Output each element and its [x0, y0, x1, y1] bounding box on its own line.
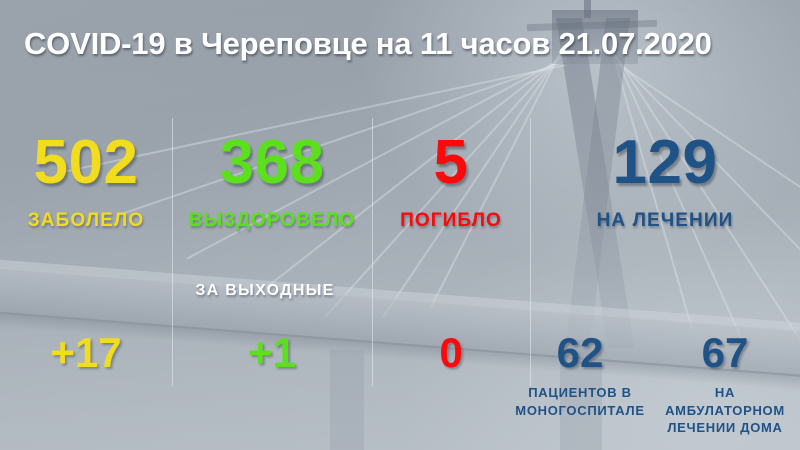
stat-monohospital-value: 62: [500, 332, 660, 374]
stat-infected-label: ЗАБОЛЕЛО: [0, 210, 172, 232]
stat-died-label: ПОГИБЛО: [372, 210, 530, 232]
covid-stats-infographic: COVID-19 в Череповце на 11 часов 21.07.2…: [0, 0, 800, 450]
stat-in-treatment-value: 129: [530, 132, 800, 194]
weekend-stat-infected-value: +17: [0, 332, 172, 374]
stat-died: 5 ПОГИБЛО: [372, 132, 530, 232]
page-title: COVID-19 в Череповце на 11 часов 21.07.2…: [24, 26, 712, 62]
stat-outpatient: 67 НА АМБУЛАТОРНОМ ЛЕЧЕНИИ ДОМА: [650, 332, 800, 437]
weekend-stat-infected: +17: [0, 332, 172, 374]
weekend-stat-recovered-value: +1: [172, 332, 372, 374]
stat-died-value: 5: [372, 132, 530, 194]
weekend-section-title: ЗА ВЫХОДНЫЕ: [0, 282, 530, 300]
stat-outpatient-value: 67: [650, 332, 800, 374]
stat-monohospital-label: ПАЦИЕНТОВ В МОНОГОСПИТАЛЕ: [500, 384, 660, 419]
stat-recovered-value: 368: [172, 132, 372, 194]
stat-recovered: 368 ВЫЗДОРОВЕЛО: [172, 132, 372, 232]
stat-infected-value: 502: [0, 132, 172, 194]
stat-in-treatment: 129 НА ЛЕЧЕНИИ: [530, 132, 800, 232]
stat-monohospital: 62 ПАЦИЕНТОВ В МОНОГОСПИТАЛЕ: [500, 332, 660, 419]
weekend-stat-recovered: +1: [172, 332, 372, 374]
stat-in-treatment-label: НА ЛЕЧЕНИИ: [530, 210, 800, 232]
stat-recovered-label: ВЫЗДОРОВЕЛО: [172, 210, 372, 232]
stat-outpatient-label: НА АМБУЛАТОРНОМ ЛЕЧЕНИИ ДОМА: [650, 384, 800, 437]
stat-infected: 502 ЗАБОЛЕЛО: [0, 132, 172, 232]
